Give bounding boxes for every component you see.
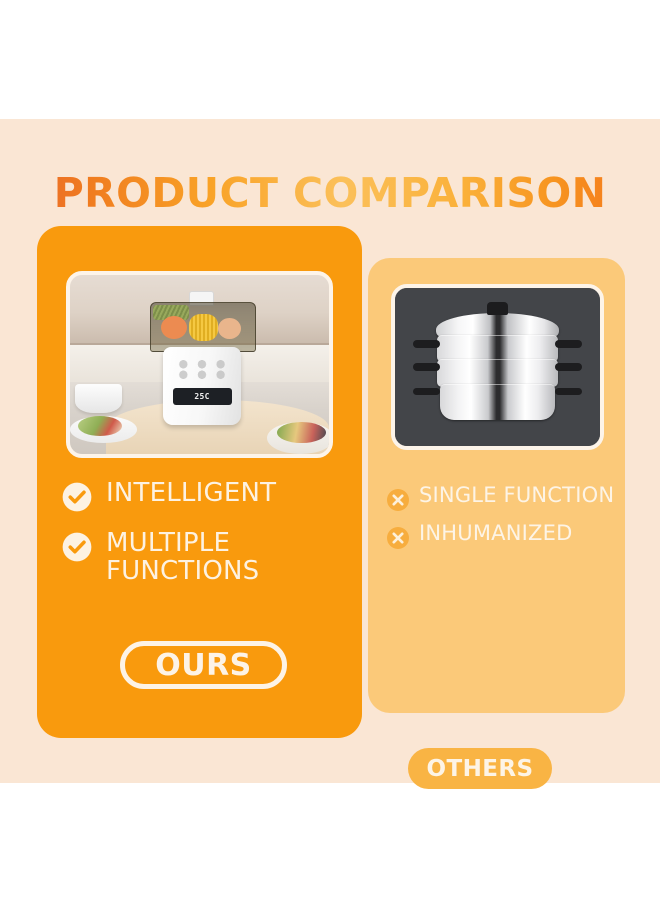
steamer-control-labels	[174, 359, 230, 379]
ours-feature-list: INTELLIGENT MULTIPLE FUNCTIONS	[62, 480, 362, 603]
ours-feature-label: INTELLIGENT	[106, 480, 276, 508]
ours-feature-item: INTELLIGENT	[62, 480, 362, 512]
x-circle-icon	[386, 526, 410, 550]
pot-handle-left-bottom	[413, 388, 440, 396]
content-panel: PRODUCT COMPARISON	[0, 119, 660, 783]
ours-feature-item: MULTIPLE FUNCTIONS	[62, 530, 362, 585]
pot-lid-knob	[487, 302, 508, 315]
others-product-photo	[391, 284, 604, 450]
others-feature-item: SINGLE FUNCTION	[386, 484, 626, 512]
comparison-card-others: SINGLE FUNCTION INHUMANIZED OTHERS	[368, 258, 625, 713]
steamer-body: 25C	[163, 347, 241, 426]
corn-cob	[189, 314, 217, 341]
pot-handle-right-top	[555, 340, 582, 348]
others-feature-item: INHUMANIZED	[386, 522, 626, 550]
ours-badge: OURS	[120, 641, 287, 689]
salad-left	[78, 416, 122, 436]
side-bowl	[75, 384, 122, 413]
pot-tier-top	[437, 335, 558, 361]
pot-handle-left-middle	[413, 363, 440, 371]
comparison-card-ours: 25C INTELLIGENT MULT	[37, 226, 362, 738]
check-circle-icon	[62, 532, 92, 562]
others-feature-label: SINGLE FUNCTION	[419, 484, 614, 506]
page-title: PRODUCT COMPARISON	[0, 173, 660, 214]
steamer-display-value: 25C	[194, 392, 209, 401]
pot-handle-left-top	[413, 340, 440, 348]
pot-handle-right-bottom	[555, 388, 582, 396]
others-feature-label: INHUMANIZED	[419, 522, 572, 544]
pot-tier-bottom	[440, 384, 555, 420]
steamer-display: 25C	[173, 388, 232, 405]
ours-product-photo: 25C	[66, 271, 333, 458]
others-badge: OTHERS	[408, 748, 552, 789]
pot-tier-middle	[437, 359, 558, 387]
x-circle-icon	[386, 488, 410, 512]
others-feature-list: SINGLE FUNCTION INHUMANIZED	[386, 484, 626, 560]
carrot-slice	[161, 316, 187, 339]
ours-feature-label: MULTIPLE FUNCTIONS	[106, 530, 362, 585]
pot-lid	[436, 313, 559, 337]
check-circle-icon	[62, 482, 92, 512]
pot-handle-right-middle	[555, 363, 582, 371]
steamer-pot-illustration	[395, 288, 600, 446]
infographic-stage: PRODUCT COMPARISON	[0, 0, 660, 900]
